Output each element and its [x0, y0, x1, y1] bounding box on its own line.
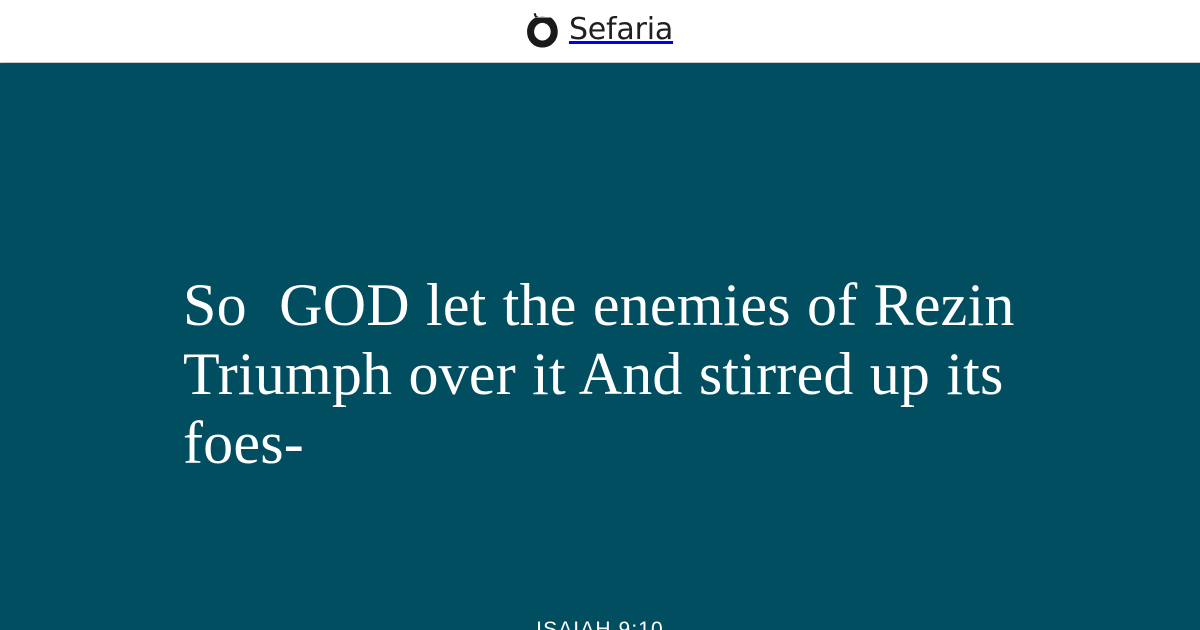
quote-canvas: So GOD let the enemies of Rezin Triumph … — [0, 64, 1200, 630]
sefaria-wordmark: Sefaria — [569, 15, 673, 45]
sefaria-samekh-logo-icon — [527, 12, 558, 48]
sefaria-logo-link[interactable]: Sefaria — [527, 12, 673, 48]
site-header: Sefaria — [0, 0, 1200, 63]
quote-text: So GOD let the enemies of Rezin Triumph … — [183, 271, 1043, 478]
sefaria-quote-card: Sefaria So GOD let the enemies of Rezin … — [0, 0, 1200, 630]
quote-citation: ISAIAH 9:10 — [0, 616, 1200, 630]
